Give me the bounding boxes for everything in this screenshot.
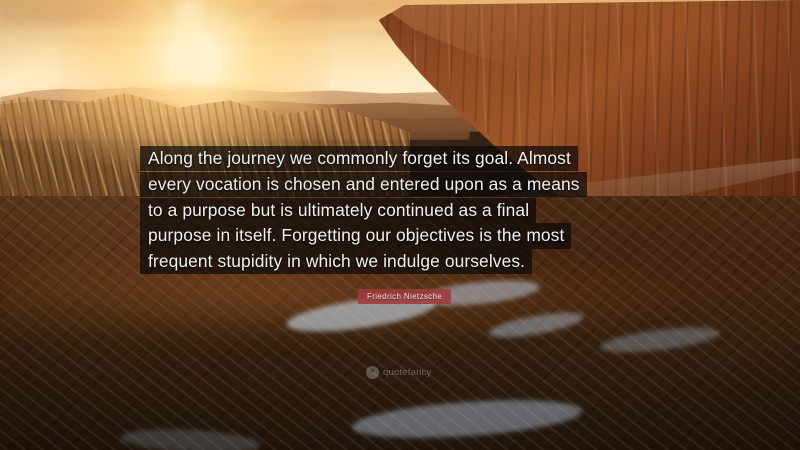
quote-mark-icon: “ (366, 366, 379, 379)
ice-patch (351, 394, 583, 444)
cloud-streaks (0, 0, 800, 110)
quote-line: Along the journey we commonly forget its… (140, 146, 578, 171)
quote-text-block: Along the journey we commonly forget its… (140, 146, 680, 275)
quote-line: frequent stupidity in which we indulge o… (140, 249, 532, 274)
watermark-label: quotefancy (383, 367, 431, 378)
sunset-sky (0, 0, 800, 118)
quote-line: to a purpose but is ultimately continued… (140, 198, 536, 223)
quote-line: purpose in itself. Forgetting our object… (140, 223, 571, 248)
distant-hills (0, 70, 520, 132)
distant-hills-ridge (0, 92, 470, 140)
ice-patch (120, 426, 261, 450)
author-badge: Friedrich Nietzsche (358, 289, 451, 304)
hillside-crest-light (370, 0, 800, 130)
quote-line: every vocation is chosen and entered upo… (140, 172, 587, 197)
ice-patch (487, 308, 585, 342)
watermark: “ quotefancy (366, 366, 431, 379)
quote-wallpaper: Along the journey we commonly forget its… (0, 0, 800, 450)
ice-patch (599, 323, 721, 357)
